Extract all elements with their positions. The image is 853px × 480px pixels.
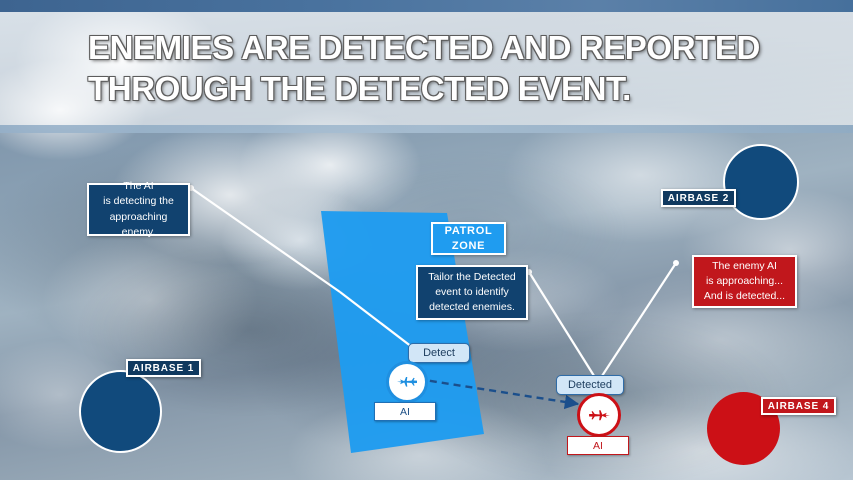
patrol-zone-label-line-2: ZONE (452, 239, 485, 254)
patrol-zone-label-line-1: PATROL (445, 224, 493, 239)
callout-tailor-line-2: event to identify (435, 285, 509, 300)
friendly-jet-badge[interactable] (386, 361, 428, 403)
tag-friendly-ai[interactable]: AI (374, 402, 436, 421)
jet-fighter-icon (395, 370, 419, 394)
slide-canvas: ENEMIES ARE DETECTED AND REPORTED THROUG… (0, 0, 853, 480)
callout-ai-detecting-line-3: approaching enemy. (97, 210, 180, 240)
enemy-jet-badge[interactable] (577, 393, 621, 437)
leader-line-enemy (600, 263, 676, 379)
patrol-zone-label[interactable]: PATROL ZONE (431, 222, 506, 255)
airbase-1-label[interactable]: AIRBASE 1 (126, 359, 201, 377)
callout-enemy-line-1: The enemy AI (712, 259, 777, 274)
airbase-2-label[interactable]: AIRBASE 2 (661, 189, 736, 207)
airbase-2-marker[interactable] (723, 144, 799, 220)
callout-tailor-line-1: Tailor the Detected (428, 270, 516, 285)
tag-detected[interactable]: Detected (556, 375, 624, 395)
callout-enemy-line-3: And is detected... (704, 289, 785, 304)
leader-endpoint-enemy (673, 260, 679, 266)
callout-ai-detecting-line-1: The AI (123, 179, 153, 194)
airbase-4-label[interactable]: AIRBASE 4 (761, 397, 836, 415)
callout-enemy-approaching[interactable]: The enemy AI is approaching... And is de… (692, 255, 797, 308)
tag-detect[interactable]: Detect (408, 343, 470, 363)
jet-fighter-icon (587, 403, 612, 428)
callout-ai-detecting-line-2: is detecting the (103, 194, 174, 209)
leader-line-tailor (529, 272, 596, 379)
callout-enemy-line-2: is approaching... (706, 274, 783, 289)
tag-enemy-ai[interactable]: AI (567, 436, 629, 455)
callout-tailor-detected-event[interactable]: Tailor the Detected event to identify de… (416, 265, 528, 320)
callout-tailor-line-3: detected enemies. (429, 300, 515, 315)
leader-line-ai-detecting (191, 188, 340, 292)
airbase-1-marker[interactable] (79, 370, 162, 453)
callout-ai-detecting[interactable]: The AI is detecting the approaching enem… (87, 183, 190, 236)
